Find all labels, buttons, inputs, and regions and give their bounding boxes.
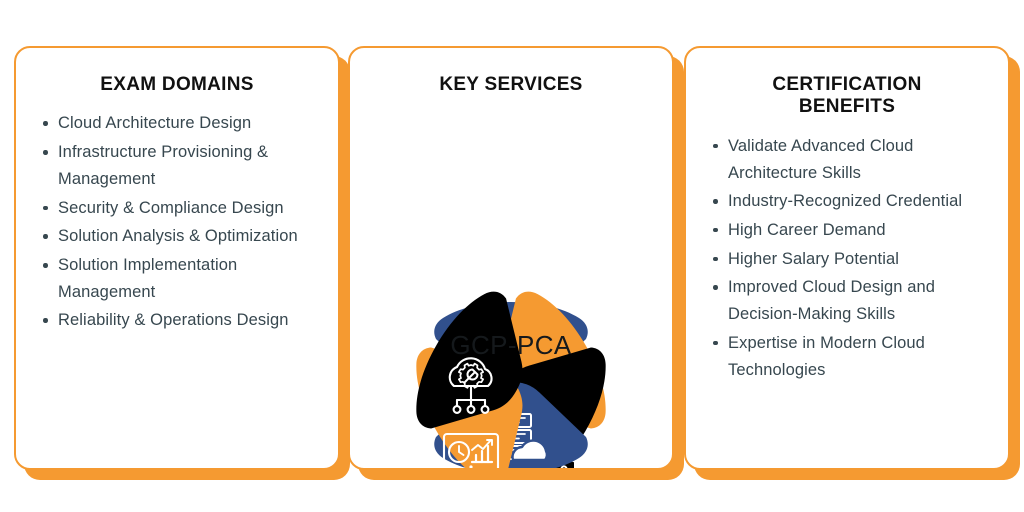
list-item: Higher Salary Potential	[708, 246, 986, 273]
key-services-card: KEY SERVICES	[348, 46, 674, 470]
list-item: Expertise in Modern Cloud Technologies	[708, 330, 986, 383]
list-item: Industry-Recognized Credential	[708, 188, 986, 215]
certification-benefits-list: Validate Advanced Cloud Architecture Ski…	[708, 133, 986, 383]
title-line-1: CERTIFICATION	[708, 74, 986, 96]
list-item: Validate Advanced Cloud Architecture Ski…	[708, 133, 986, 186]
certification-benefits-card-wrapper: CERTIFICATION BENEFITS Validate Advanced…	[684, 46, 1010, 470]
exam-domains-title: EXAM DOMAINS	[38, 74, 316, 96]
list-item: Solution Implementation Management	[38, 252, 316, 305]
certification-benefits-card: CERTIFICATION BENEFITS Validate Advanced…	[684, 46, 1010, 470]
key-services-wheel: GCP-PCA	[361, 258, 661, 470]
list-item: High Career Demand	[708, 217, 986, 244]
list-item: Improved Cloud Design and Decision-Makin…	[708, 274, 986, 327]
exam-domains-card: EXAM DOMAINS Cloud Architecture Design I…	[14, 46, 340, 470]
list-item: Security & Compliance Design	[38, 195, 316, 222]
list-item: Reliability & Operations Design	[38, 307, 316, 334]
exam-domains-card-wrapper: EXAM DOMAINS Cloud Architecture Design I…	[14, 46, 340, 470]
infographic-stage: EXAM DOMAINS Cloud Architecture Design I…	[0, 0, 1024, 512]
list-item: Solution Analysis & Optimization	[38, 223, 316, 250]
exam-domains-list: Cloud Architecture Design Infrastructure…	[38, 110, 316, 334]
certification-benefits-title: CERTIFICATION BENEFITS	[708, 74, 986, 119]
title-line-2: BENEFITS	[708, 96, 986, 118]
list-item: Infrastructure Provisioning & Management	[38, 139, 316, 192]
list-item: Cloud Architecture Design	[38, 110, 316, 137]
key-services-card-wrapper: KEY SERVICES	[348, 46, 674, 470]
key-services-title: KEY SERVICES	[372, 74, 650, 96]
